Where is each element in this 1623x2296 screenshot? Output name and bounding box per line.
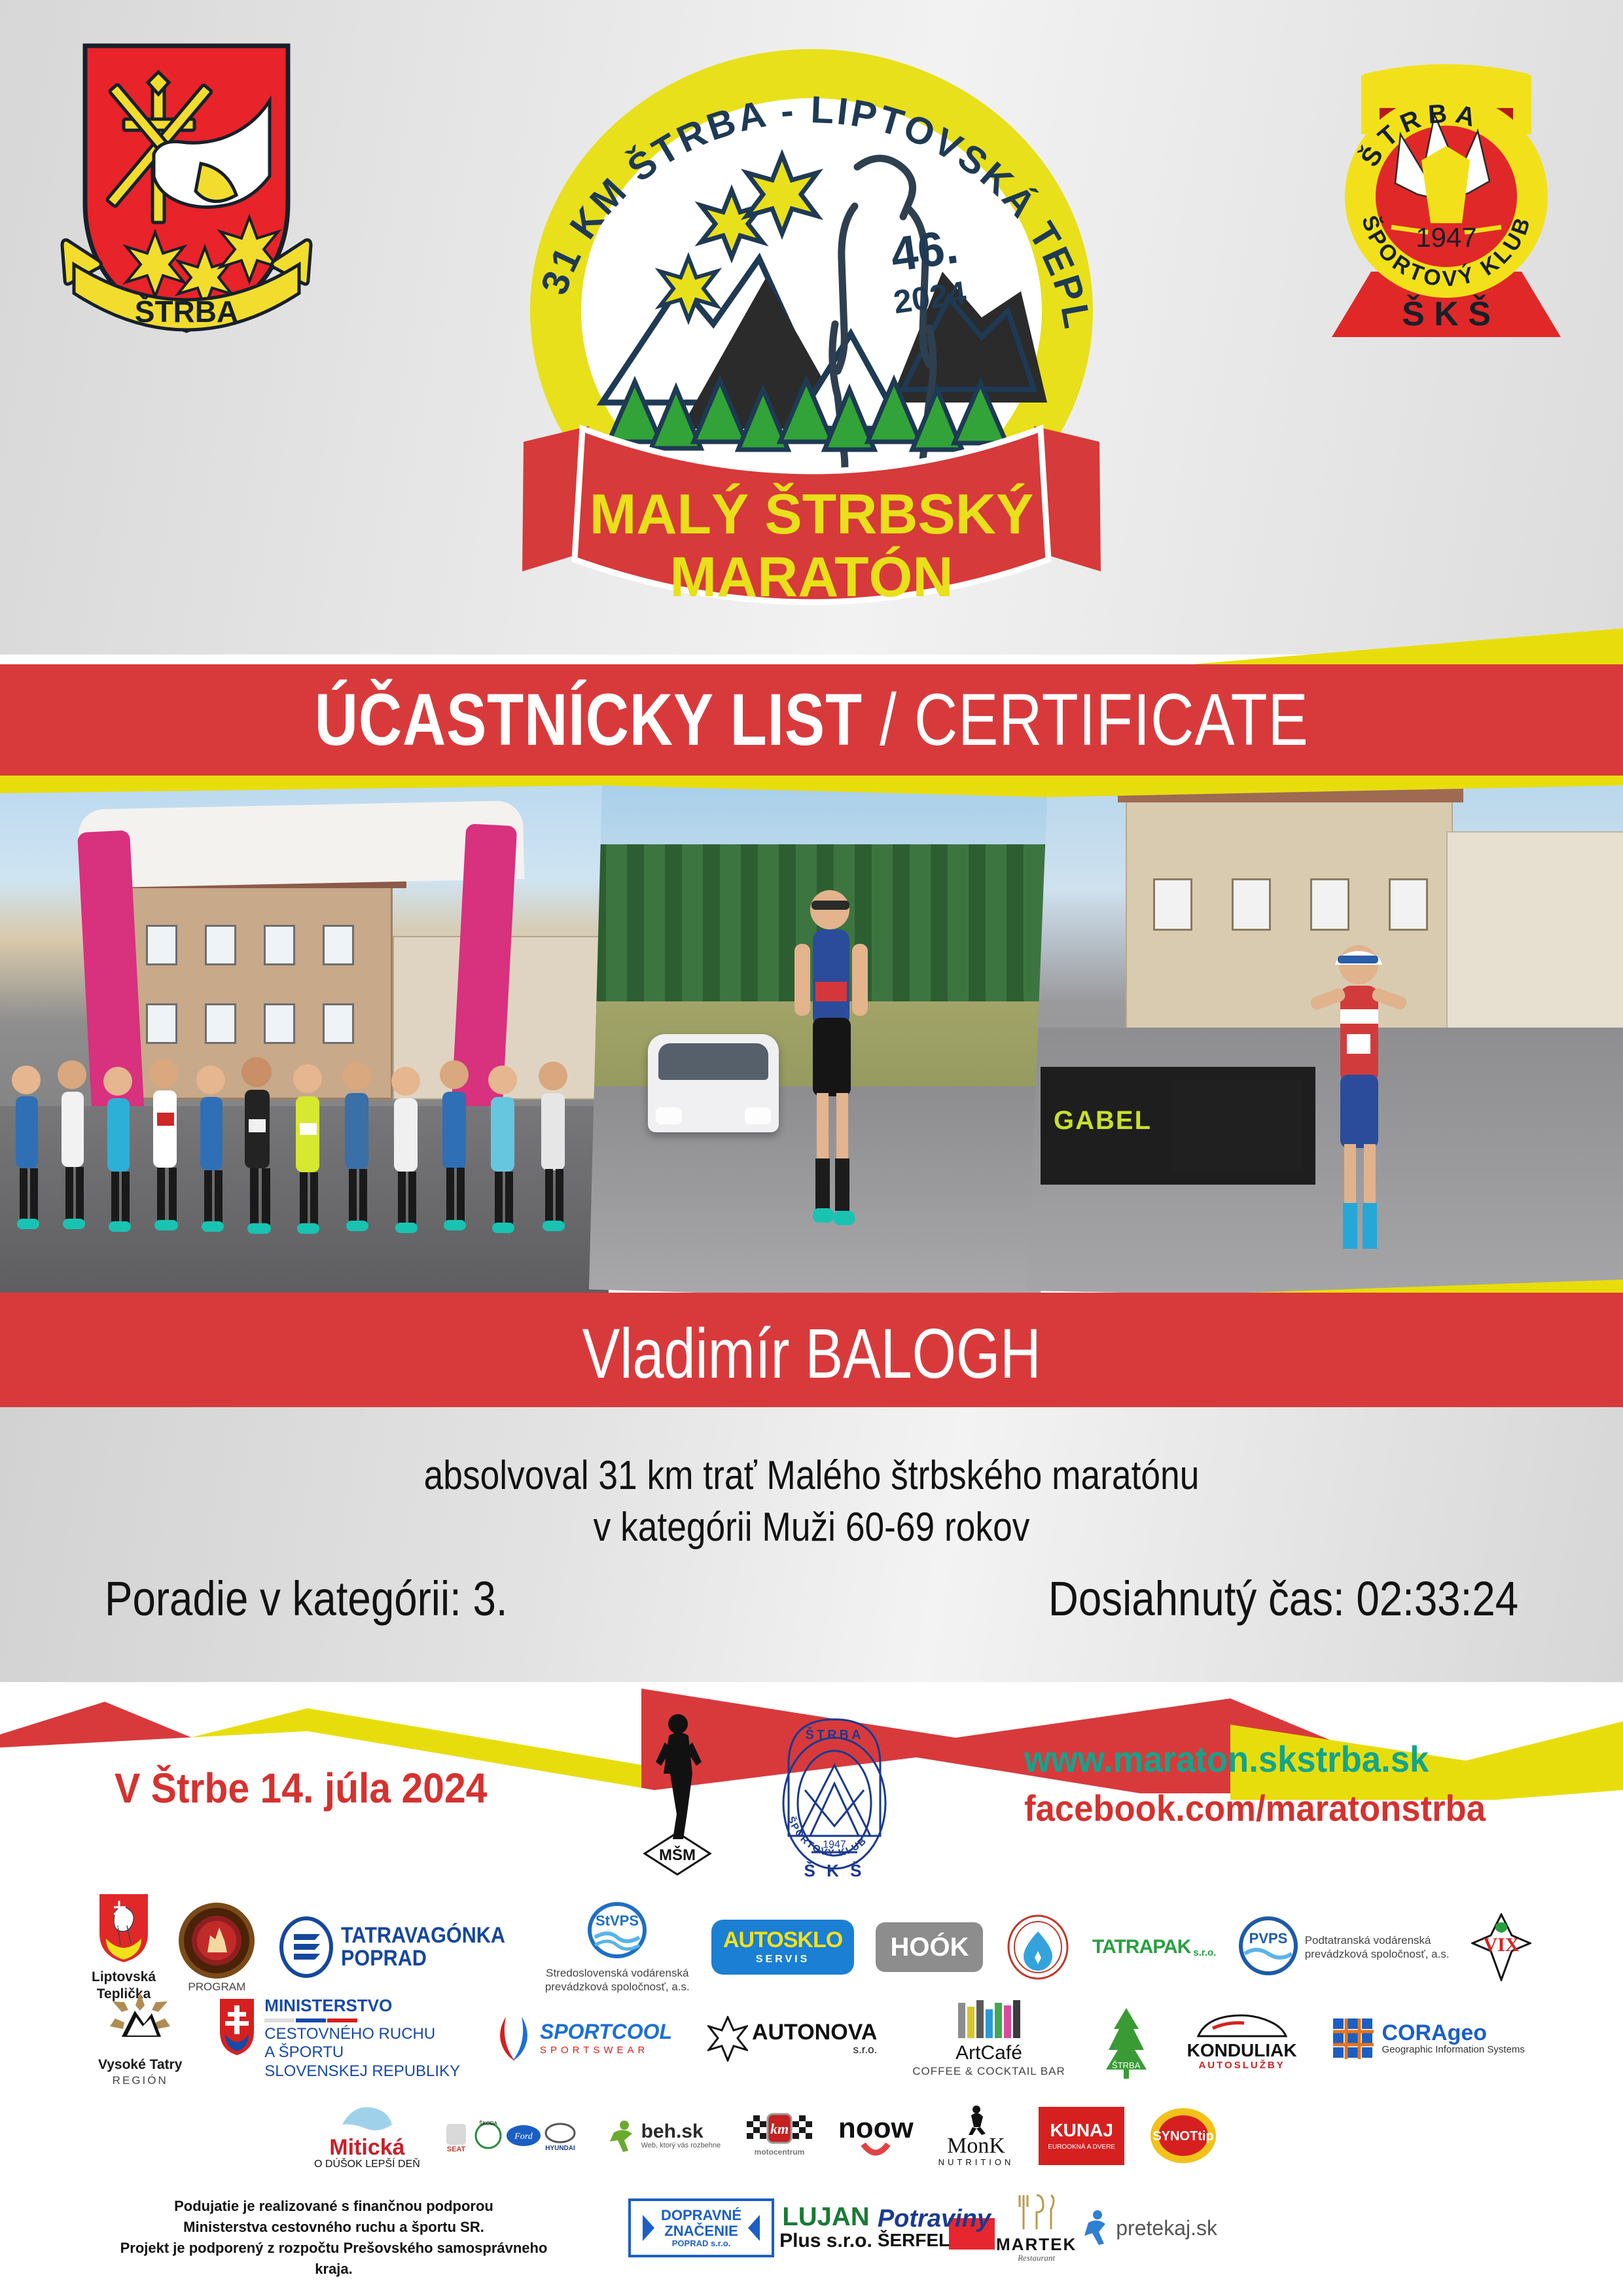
rank-and-time-row: Poradie v kategórii: 3. Dosiahnutý čas: … — [0, 1571, 1623, 1626]
sponsor-label: AUTOSKLO — [723, 1929, 842, 1951]
sponsor-label: Potraviny — [878, 2206, 991, 2231]
disclaimer-line-2: Ministerstva cestovného ruchu a športu S… — [105, 2217, 563, 2238]
sponsor-row-3: Mitická O DÚŠOK LEPŠÍ DEŇ SEAT ŠKODA For… — [0, 2101, 1623, 2170]
sponsor-label: LUJAN — [782, 2204, 869, 2230]
sponsor-label: beh.sk — [641, 2122, 721, 2142]
svg-text:SEAT: SEAT — [446, 2145, 465, 2153]
sponsor-sublabel: s.r.o. — [1193, 1947, 1216, 1958]
photo-runner-on-road — [589, 785, 1047, 1302]
details-text-block: absolvoval 31 km trať Malého štrbského m… — [114, 1450, 1510, 1554]
sponsor-monk-nutrition: MonK NUTRITION — [938, 2105, 1014, 2167]
sponsor-sublabel: O DÚŠOK LEPŠÍ DEŇ — [314, 2159, 420, 2170]
photo-finishing-runner: GABEL — [1027, 785, 1623, 1302]
sponsor-label: TATRAPAK — [1092, 1936, 1190, 1958]
sponsor-sublabel: SPORTSWEAR — [540, 2045, 672, 2056]
sks-strba-club-logo: 1947 ŠTRBA ŠPORTOVÝ KLUB Š K Š — [1309, 36, 1584, 344]
sponsor-label: KUNAJ — [1048, 2121, 1115, 2140]
sponsor-ministerstvo: MINISTERSTVO CESTOVNÉHO RUCHU A ŠPORTU S… — [217, 1996, 460, 2081]
sponsor-sublabel: CESTOVNÉHO RUCHU A ŠPORTU SLOVENSKEJ REP… — [264, 2025, 460, 2081]
sponsor-martek-restaurant: MARTEK Restaurant — [996, 2193, 1077, 2263]
photo-strip: GABEL — [0, 785, 1623, 1302]
sponsor-label: km — [770, 2121, 789, 2137]
disclaimer-line-3: Projekt je podporený z rozpočtu Prešovsk… — [105, 2238, 563, 2280]
sponsor-pretekajsk: pretekaj.sk — [1082, 2210, 1217, 2246]
sponsor-sublabel: POPRAD — [341, 1947, 505, 1971]
sponsor-label: AUTONOVA — [752, 2021, 877, 2043]
sponsor-synottip: SYNOTtip — [1149, 2108, 1217, 2164]
sponsor-sublabel: ŠERFEL — [878, 2231, 991, 2250]
sponsor-sublabel: POPRAD s.r.o. — [661, 2238, 741, 2248]
crest-left-label: ŠTRBA — [135, 295, 238, 329]
sponsor-liptovska-teplicka: Liptovská Teplička — [92, 1892, 156, 2003]
category-rank: Poradie v kategórii: 3. — [105, 1571, 508, 1626]
sponsor-pvps: PVPS Podtatranská vodárenská prevádzková… — [1238, 1916, 1450, 1979]
page-title: ÚČASTNÍCKY LIST / CERTIFICATE — [315, 683, 1309, 757]
disclaimer-line-1: Podujatie je realizované s finančnou pod… — [105, 2196, 563, 2217]
sponsor-stvps: StVPS Stredoslovenská vodárenská prevádz… — [545, 1901, 690, 1994]
sponsor-label: pretekaj.sk — [1116, 2217, 1217, 2238]
sponsor-row-1: Liptovská Teplička PROGRAM — [0, 1892, 1623, 2003]
logo-ribbon-line2: MARATÓN — [669, 546, 953, 609]
sponsor-label: SYNOTtip — [1152, 2129, 1213, 2144]
sponsor-sublabel: ŠTRBA — [1112, 2060, 1140, 2071]
title-separator: / — [863, 679, 914, 761]
sponsor-kunaj: KUNAJ EUROOKNÁ A DVERE — [1039, 2107, 1124, 2165]
sponsor-label: TATRAVAGÓNKA — [341, 1924, 505, 1948]
sks-footer-top: ŠTRBA — [806, 1727, 864, 1742]
sponsor-label: CORAgeo — [1382, 2022, 1524, 2044]
sks-year: 1947 — [1416, 222, 1476, 253]
sponsor-label: noow — [838, 2114, 914, 2143]
sponsor-label: SPORTCOOL — [540, 2021, 672, 2042]
finish-time-label: Dosiahnutý čas: — [1048, 1571, 1345, 1626]
sponsor-vix: VIX — [1471, 1913, 1531, 1981]
sponsor-label: VIX — [1483, 1934, 1519, 1956]
sponsor-autosklo-servis: AUTOSKLO SERVIS — [711, 1920, 854, 1975]
svg-text:HYUNDAI: HYUNDAI — [545, 2145, 575, 2152]
sponsor-label: HOÓK — [890, 1934, 969, 1960]
sponsor-sublabel: Geographic Information Systems — [1382, 2044, 1524, 2055]
detail-line-2: v kategórii Muži 60-69 rokov — [114, 1501, 1510, 1553]
sponsor-vysoke-tatry: Vysoké Tatry REGIÓN — [98, 1990, 182, 2088]
msm-label: MŠM — [659, 1846, 696, 1864]
sponsor-pd-strba — [1005, 1913, 1071, 1981]
sponsor-tatrapak: TATRAPAK s.r.o. — [1092, 1936, 1216, 1958]
sponsor-corageo: CORAgeo Geographic Information Systems — [1332, 2017, 1524, 2060]
sponsor-sublabel: SERVIS — [723, 1954, 842, 1965]
certificate-title-banner: ÚČASTNÍCKY LIST / CERTIFICATE — [0, 664, 1623, 776]
title-light-part: CERTIFICATE — [914, 679, 1309, 761]
sponsor-sportcool: SPORTCOOL SPORTSWEAR — [495, 2014, 672, 2064]
svg-text:StVPS: StVPS — [596, 1912, 639, 1929]
sponsor-sublabel: NUTRITION — [938, 2157, 1014, 2167]
svg-text:Ford: Ford — [514, 2132, 533, 2142]
sponsor-sublabel: motocentrum — [755, 2147, 805, 2157]
maly-strbsky-maraton-logo: 31 KM ŠTRBA - LIPTOVSKÁ TEPLIČKA - ŠTRBA — [484, 36, 1139, 612]
detail-line-1: absolvoval 31 km trať Malého štrbského m… — [114, 1450, 1510, 1501]
logo-ribbon-line1: MALÝ ŠTRBSKÝ — [590, 483, 1033, 546]
sponsor-ps-urbar-strba: ŠTRBA — [1101, 2007, 1152, 2071]
contact-links: www.maraton.skstrba.sk facebook.com/mara… — [1024, 1738, 1567, 1829]
participant-name-banner: Vladimír BALOGH — [0, 1293, 1623, 1414]
sponsor-label: Mitická — [329, 2136, 404, 2159]
category-rank-label: Poradie v kategórii: — [105, 1571, 461, 1626]
sponsor-noow: noow — [838, 2114, 914, 2157]
svg-text:ŠKODA: ŠKODA — [479, 2121, 498, 2126]
sponsor-km-motocentrum: km motocentrum — [745, 2111, 813, 2160]
certificate-page: ŠTRBA 1947 ŠTRBA — [0, 0, 1623, 2296]
photo-race-start — [0, 785, 609, 1302]
strba-municipal-crest: ŠTRBA — [56, 39, 317, 340]
funding-disclaimer: Podujatie je realizované s finančnou pod… — [105, 2196, 563, 2280]
event-date: V Štrbe 14. júla 2024 — [115, 1764, 487, 1812]
sponsor-artcafe: ArtCafé COFFEE & COCKTAIL BAR — [912, 1999, 1065, 2078]
sponsor-car-brands: SEAT ŠKODA Ford HYUNDAI — [445, 2119, 582, 2153]
sponsor-sublabel: Restaurant — [1018, 2253, 1055, 2263]
website-link[interactable]: www.maraton.skstrba.sk — [1024, 1738, 1535, 1780]
category-rank-value: 3. — [473, 1571, 507, 1626]
sponsor-label: MonK — [947, 2135, 1005, 2157]
msm-runner-logo: MŠM — [615, 1708, 740, 1878]
title-bold-part: ÚČASTNÍCKY LIST — [315, 679, 863, 761]
logo-bib-number: 46. — [887, 219, 961, 282]
sks-footer-logo: ŠTRBA 1947 Š K Š ŠPORTOVÝ KLUB — [759, 1705, 910, 1882]
sponsor-caption: Vysoké Tatry — [98, 2056, 182, 2073]
sponsor-sublabel: COFFEE & COCKTAIL BAR — [912, 2064, 1065, 2078]
sponsor-sublabel: Web, ktorý vás rozbehne — [641, 2142, 721, 2149]
svg-text:PVPS: PVPS — [1249, 1930, 1287, 1946]
sponsor-lujan-plus: LUJAN Plus s.r.o. — [779, 2204, 872, 2252]
sponsor-sublabel: s.r.o. — [752, 2043, 877, 2056]
sponsor-label: ArtCafé — [955, 2042, 1022, 2064]
sponsor-miticka: Mitická O DÚŠOK LEPŠÍ DEŇ — [314, 2101, 420, 2170]
finish-time-value: 02:33:24 — [1356, 1571, 1518, 1626]
sks-abbr: Š K Š — [1402, 295, 1491, 333]
sponsor-konduliak: KONDULIAK AUTOSLUŽBY — [1187, 2006, 1297, 2071]
sponsor-label: MARTEK — [996, 2236, 1077, 2253]
sponsor-hook: HOÓK — [876, 1922, 983, 1972]
sponsor-label: MINISTERSTVO — [264, 1996, 460, 2016]
participant-name: Vladimír BALOGH — [582, 1318, 1041, 1389]
sponsor-row-2: Vysoké Tatry REGIÓN MINISTERSTVO — [0, 1990, 1623, 2088]
finish-time: Dosiahnutý čas: 02:33:24 — [1048, 1571, 1518, 1626]
sponsor-autonova: AUTONOVA s.r.o. — [707, 2016, 877, 2062]
sponsor-sublabel: Podtatranská vodárenská prevádzková spol… — [1305, 1933, 1450, 1962]
facebook-link[interactable]: facebook.com/maratonstrba — [1024, 1787, 1535, 1829]
sponsor-label: KONDULIAK — [1187, 2041, 1297, 2060]
sponsor-program-trencin: PROGRAM — [177, 1901, 256, 1994]
sponsor-behsk: beh.sk Web, ktorý vás rozbehne — [607, 2119, 721, 2152]
sponsor-sublabel: EUROOKNÁ A DVERE — [1048, 2144, 1115, 2151]
sponsor-potraviny-serfel: Potraviny ŠERFEL — [878, 2206, 991, 2250]
sponsor-sublabel: REGIÓN — [113, 2073, 168, 2087]
sponsor-sublabel: Plus s.r.o. — [779, 2230, 872, 2252]
sponsor-dopravne-znacenie: DOPRAVNÉ ZNAČENIE POPRAD s.r.o. — [628, 2198, 774, 2257]
sks-footer-abbr: Š K Š — [804, 1861, 865, 1880]
sponsor-tatravagonka-poprad: TATRAVAGÓNKA POPRAD — [278, 1916, 524, 1979]
sponsor-label: DOPRAVNÉ ZNAČENIE — [661, 2208, 741, 2238]
sponsor-sublabel: AUTOSLUŽBY — [1198, 2060, 1285, 2071]
